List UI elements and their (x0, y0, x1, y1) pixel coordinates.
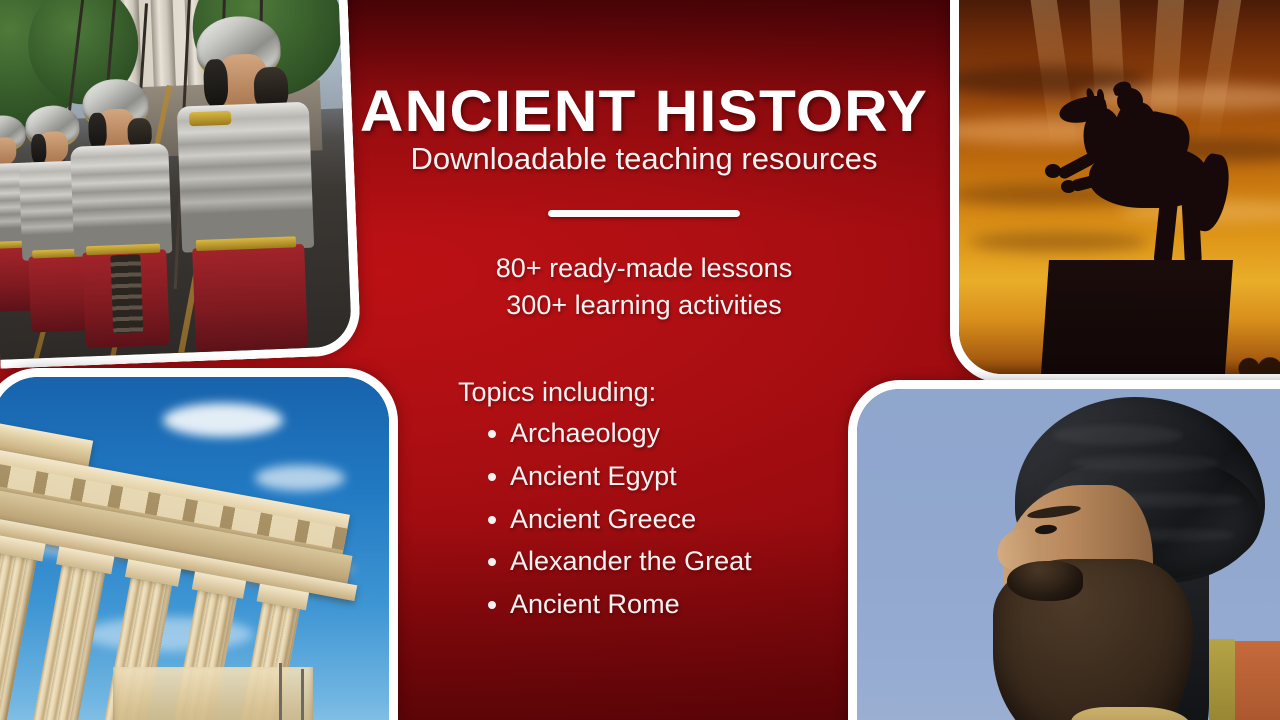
statue-plinth (1041, 260, 1233, 374)
topics-heading: Topics including: (458, 378, 752, 406)
list-item: Ancient Greece (510, 498, 752, 541)
stat-lessons: 80+ ready-made lessons (338, 250, 950, 287)
doric-column (18, 565, 105, 720)
roman-soldier-foreground (169, 14, 324, 353)
red-tunic (192, 244, 308, 352)
stats-block: 80+ ready-made lessons 300+ learning act… (338, 250, 950, 323)
parthenon-artwork (0, 377, 389, 720)
photo-alexander-statue (950, 0, 1280, 383)
slide-text-content: ANCIENT HISTORY Downloadable teaching re… (338, 0, 950, 720)
garment-trim (1209, 639, 1235, 720)
moustache (1007, 561, 1083, 601)
turban-fold (1071, 455, 1221, 471)
helmet-cheek-guard (31, 134, 47, 165)
roman-legionaries-artwork (0, 0, 352, 360)
page-title: ANCIENT HISTORY (326, 83, 962, 141)
turban-fold (1053, 425, 1183, 445)
horse-hoof (1061, 180, 1076, 193)
helmet-cheek-guard (88, 112, 107, 149)
rider-leg (1119, 151, 1143, 193)
topics-block: Topics including: Archaeology Ancient Eg… (458, 378, 752, 626)
stat-activities: 300+ learning activities (338, 287, 950, 324)
topics-list: Archaeology Ancient Egypt Ancient Greece… (458, 412, 752, 625)
apron-studs (110, 254, 143, 333)
list-item: Archaeology (510, 412, 752, 455)
photo-roman-legionaries (0, 0, 361, 369)
slide-canvas: ANCIENT HISTORY Downloadable teaching re… (0, 0, 1280, 720)
horse-ear (1096, 89, 1104, 104)
scaffolding (301, 669, 304, 720)
lorica-segmentata (70, 143, 172, 257)
subtitle: Downloadable teaching resources (338, 142, 950, 176)
divider-rule (548, 210, 740, 217)
cloud (163, 403, 283, 437)
alexander-statue-artwork (959, 0, 1280, 374)
doric-column (0, 552, 36, 720)
scaffolding (279, 663, 282, 720)
treeline (1235, 346, 1280, 374)
inner-wall (113, 667, 313, 720)
equestrian-statue-silhouette (1037, 80, 1257, 280)
shoulder-ornament (189, 111, 232, 127)
roman-soldier (66, 77, 183, 357)
list-item: Ancient Egypt (510, 455, 752, 498)
list-item: Alexander the Great (510, 540, 752, 583)
horse-hoof (1045, 164, 1061, 178)
list-item: Ancient Rome (510, 583, 752, 626)
helmet-cheek-guard (203, 59, 229, 108)
